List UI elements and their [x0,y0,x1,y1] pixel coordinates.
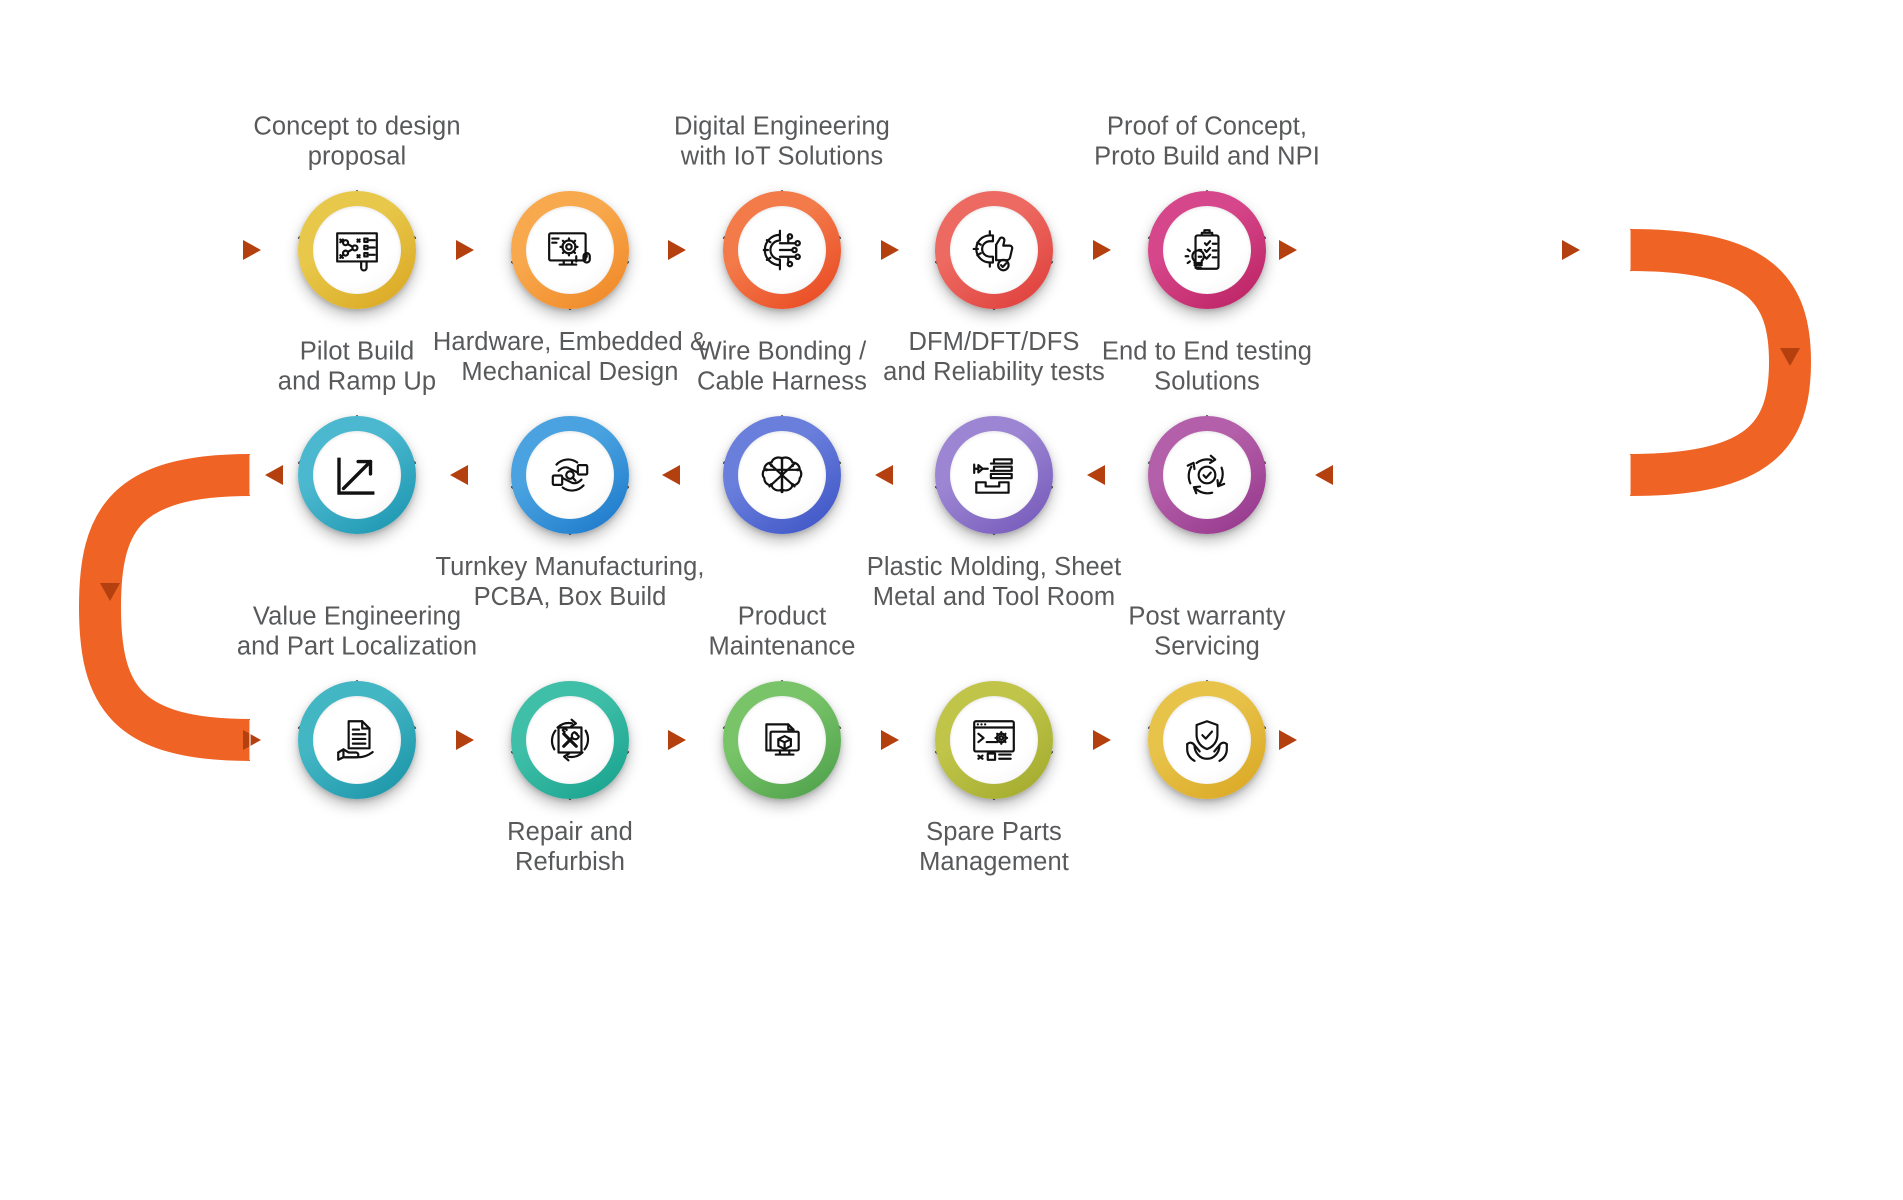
stage-label-11: Value Engineering and Part Localization [147,602,567,662]
stage-ring-4[interactable] [935,191,1053,309]
stage-ring-8[interactable] [723,416,841,534]
stage-ring-6[interactable] [298,416,416,534]
document-hand-icon [313,696,401,784]
gear-thumbsup-check-icon [950,206,1038,294]
repair-tools-cycle-icon [526,696,614,784]
growth-arrow-icon [313,431,401,519]
hands-assembly-icon [526,431,614,519]
stage-label-1: Concept to design proposal [147,112,567,172]
stage-label-13: Product Maintenance [572,602,992,662]
stage-label-14: Spare Parts Management [784,818,1204,878]
gear-circuit-iot-icon [738,206,826,294]
stage-ring-11[interactable] [298,681,416,799]
product-monitor-box-icon [738,696,826,784]
spare-parts-gear-icon [950,696,1038,784]
stage-ring-9[interactable] [935,416,1053,534]
stage-label-12: Repair and Refurbish [360,818,780,878]
stage-ring-2[interactable] [511,191,629,309]
clipboard-lightbulb-icon [1163,206,1251,294]
stage-label-6: Pilot Build and Ramp Up [147,337,567,397]
stage-ring-12[interactable] [511,681,629,799]
stage-ring-1[interactable] [298,191,416,309]
hand-shield-icon [1163,696,1251,784]
stage-ring-7[interactable] [511,416,629,534]
cycle-check-icon [1163,431,1251,519]
stage-ring-13[interactable] [723,681,841,799]
flowchart-plan-icon [313,206,401,294]
stage-ring-3[interactable] [723,191,841,309]
stage-label-15: Post warranty Servicing [997,602,1417,662]
stage-ring-15[interactable] [1148,681,1266,799]
stage-ring-14[interactable] [935,681,1053,799]
stage-label-5: Proof of Concept, Proto Build and NPI [997,112,1417,172]
stage-label-8: Wire Bonding / Cable Harness [572,337,992,397]
stage-label-3: Digital Engineering with IoT Solutions [572,112,992,172]
monitor-gear-design-icon [526,206,614,294]
stage-ring-10[interactable] [1148,416,1266,534]
stage-label-10: End to End testing Solutions [997,337,1417,397]
stage-ring-5[interactable] [1148,191,1266,309]
brain-network-icon [738,431,826,519]
infographic-canvas: Concept to design proposal Hardware, Emb… [0,0,1903,1200]
mold-tooling-icon [950,431,1038,519]
